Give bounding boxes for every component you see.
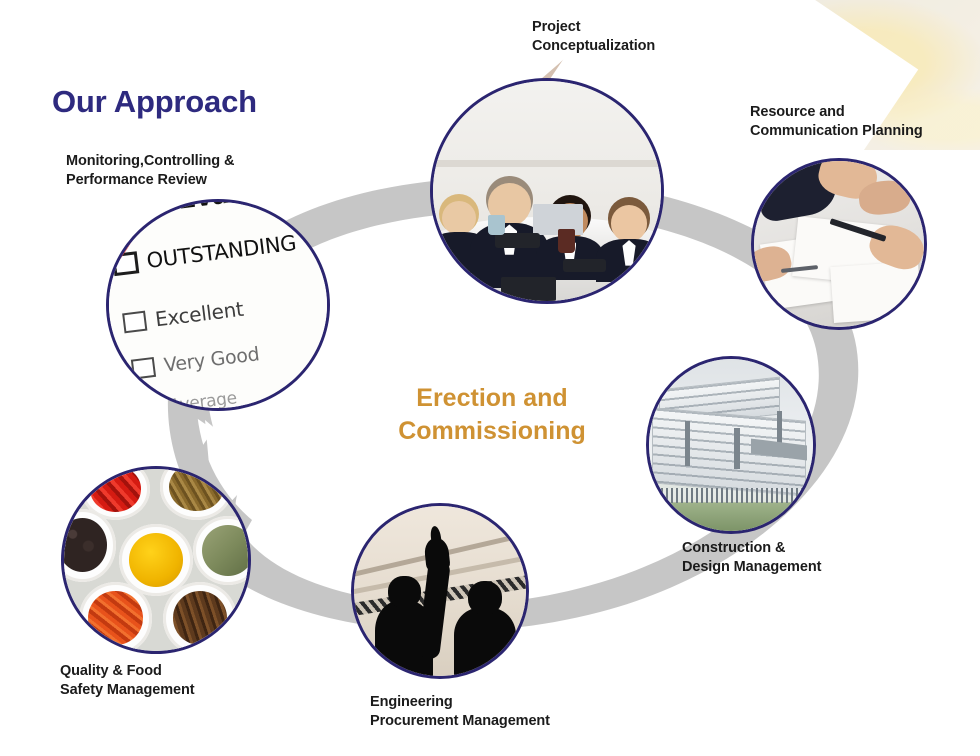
keyboard-device [563,259,606,272]
evaluation-checklist-photo: Evaluation OUTSTANDING Excellent Very Go… [109,202,327,408]
label-resource-communication-planning: Resource and Communication Planning [750,103,923,140]
node-construction-design-management[interactable] [646,356,816,534]
label-engineering-procurement-management: Engineering Procurement Management [370,693,550,730]
worker-silhouette-head [468,581,502,615]
checkbox-unchecked [131,357,156,380]
water-bottle-icon [488,215,505,235]
person-figure [611,205,647,241]
modern-building-photo [649,359,813,531]
wall-detail [433,160,661,167]
workers-silhouette-photo [354,506,526,676]
label-project-conceptualization: Project Conceptualization [532,18,655,55]
evaluation-sheet: Evaluation OUTSTANDING Excellent Very Go… [106,199,330,411]
building-mullion [685,421,690,466]
keyboard-device [495,233,541,248]
red-checkmark-icon [106,224,155,296]
person-head [611,205,647,241]
person-figure [442,201,476,235]
page-title: Our Approach [52,84,257,120]
building-mullion [777,411,782,445]
evaluation-option-very-good: Very Good [131,343,260,380]
monitor-device [501,277,556,301]
evaluation-option-excellent: Excellent [122,297,245,336]
label-quality-food-safety-management: Quality & Food Safety Management [60,662,194,699]
evaluation-option-label: Very Good [163,343,261,376]
node-project-conceptualization[interactable] [430,78,664,304]
label-construction-design-management: Construction & Design Management [682,539,821,576]
checkbox-unchecked [122,311,147,334]
label-monitoring-controlling: Monitoring,Controlling & Performance Rev… [66,152,234,189]
coffee-cup-icon [558,229,575,253]
business-meeting-photo [433,81,661,301]
node-engineering-procurement-management[interactable] [351,503,529,679]
evaluation-option-label: Excellent [154,297,245,332]
evaluation-heading: Evaluation [176,199,330,216]
building-mullion [734,428,740,469]
worker-silhouette-body [454,608,516,676]
worker-silhouette-head [388,576,421,608]
hands-documents-planning-photo [754,161,924,327]
node-quality-food-safety-management[interactable] [61,466,251,654]
evaluation-option-average: Average [140,388,238,411]
node-resource-communication-planning[interactable] [751,158,927,330]
center-process-label: Erection and Commissioning [382,382,602,448]
spice-bowls-photo [64,469,248,651]
node-monitoring-controlling[interactable]: Evaluation OUTSTANDING Excellent Very Go… [106,199,330,411]
evaluation-option-label: Average [168,388,238,411]
person-head [442,201,476,235]
slide-canvas: Our Approach Erection and Commissioning … [0,0,980,756]
ground-grass [649,502,813,531]
spice-bowl-cloves [163,582,237,654]
spice-bowl-paprika [79,582,153,654]
evaluation-option-label: OUTSTANDING [145,230,297,272]
document-sheet [830,261,922,323]
perimeter-fence [656,488,807,503]
